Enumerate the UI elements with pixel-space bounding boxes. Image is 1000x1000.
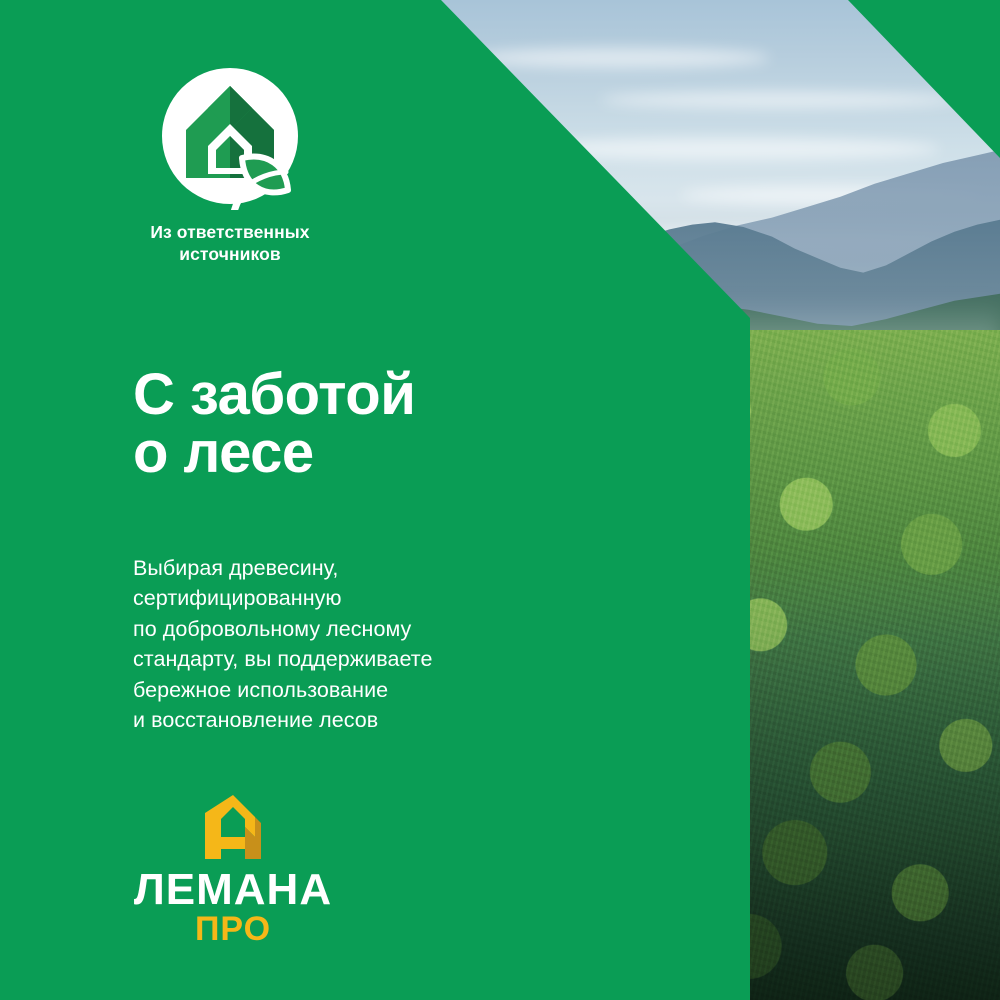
house-roof-a-icon bbox=[195, 793, 271, 861]
brand-sub-name: ПРО bbox=[133, 912, 333, 946]
ecolabel-caption: Из ответственных источников bbox=[130, 222, 330, 265]
responsible-sources-ecolabel: Из ответственных источников bbox=[130, 62, 330, 265]
brand-lockup: ЛЕМАНА ПРО bbox=[133, 793, 333, 946]
body-copy: Выбирая древесину, сертифицированную по … bbox=[133, 553, 432, 736]
poster-canvas: Из ответственных источников С заботой о … bbox=[0, 0, 1000, 1000]
house-leaf-circle-icon bbox=[156, 62, 304, 210]
brand-name: ЛЕМАНА bbox=[133, 869, 333, 911]
page-title: С заботой о лесе bbox=[133, 366, 415, 482]
poster-content: Из ответственных источников С заботой о … bbox=[0, 0, 1000, 1000]
